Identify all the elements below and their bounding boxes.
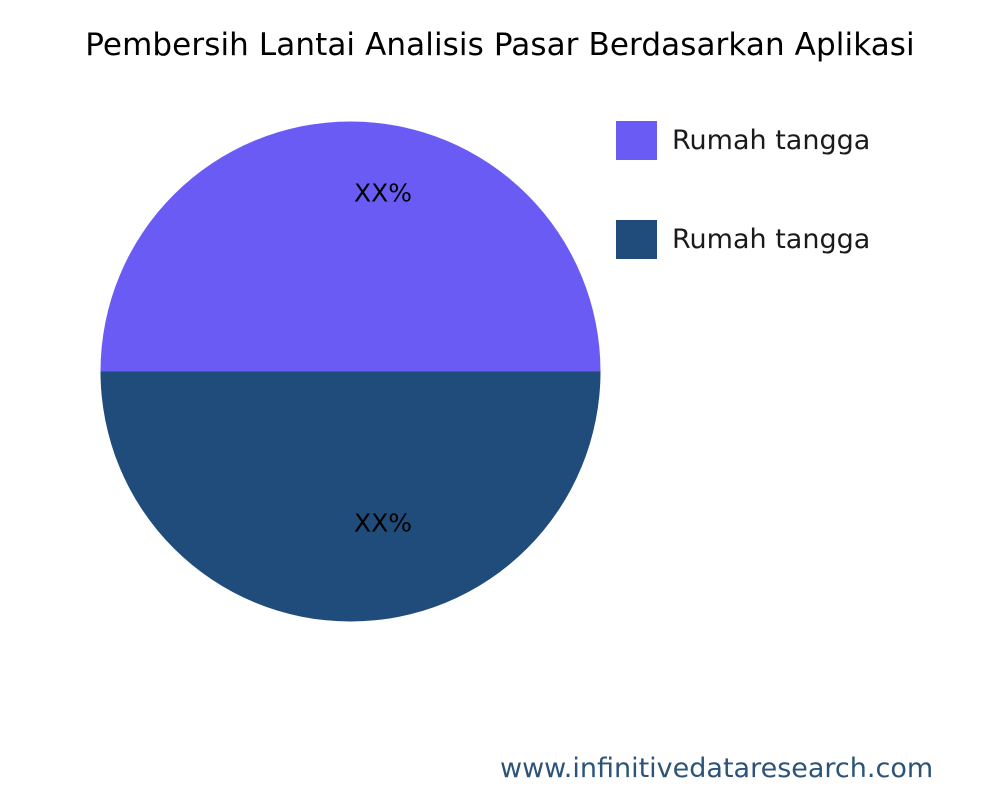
legend-label-0: Rumah tangga [672,121,870,160]
legend-swatch-icon-1 [616,220,657,259]
pie-svg [100,121,601,622]
legend-entry-0[interactable]: Rumah tangga [616,121,976,220]
footer-website-url: www.infinitivedataresearch.com [500,752,933,786]
legend-label-1: Rumah tangga [672,220,870,259]
pie-slice-label-top: XX% [354,181,412,206]
legend-entry-1[interactable]: Rumah tangga [616,220,976,319]
chart-legend: Rumah tangga Rumah tangga [616,121,976,319]
chart-title: Pembersih Lantai Analisis Pasar Berdasar… [22,26,978,64]
pie-slice-rumah-tangga-bottom[interactable] [101,122,601,372]
pie-chart-figure: Pembersih Lantai Analisis Pasar Berdasar… [0,0,1000,800]
pie-plot-area: XX% XX% [100,121,601,622]
pie-slice-label-bottom: XX% [354,511,412,536]
legend-swatch-icon-0 [616,121,657,160]
pie-slice-rumah-tangga-top[interactable] [101,372,601,622]
